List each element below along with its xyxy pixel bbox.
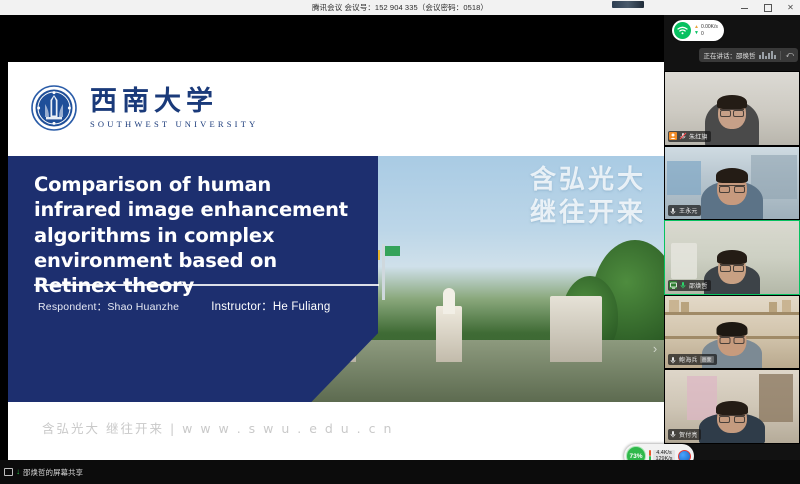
- participant-name: 朱红旗: [689, 132, 708, 141]
- participant-name: 王永元: [679, 206, 698, 215]
- active-speaker-text: 正在讲话：邵焕哲: [703, 50, 755, 60]
- video-tile[interactable]: 王永元: [664, 146, 800, 221]
- participant-video-rail: ▲ 0.00K/s ▼ 0 正在讲话：邵焕哲 ⤺: [664, 15, 800, 460]
- cabinet-shape: [759, 374, 793, 422]
- university-logo: 西南大学 SOUTHWEST UNIVERSITY: [30, 84, 258, 132]
- video-tile[interactable]: 鲍海兵 画面: [664, 295, 800, 370]
- participant-glasses: [720, 109, 744, 115]
- respondent-text: Respondent：Shao Huanzhe: [38, 299, 179, 314]
- participant-name: 鲍海兵: [679, 355, 698, 364]
- download-value: 0: [701, 31, 704, 38]
- participant-hair: [717, 322, 748, 336]
- participant-glasses: [719, 415, 745, 421]
- download-stat: ▼ 0: [694, 31, 718, 38]
- active-speaker-bar: 正在讲话：邵焕哲 ⤺: [699, 48, 798, 62]
- logo-name-cn: 西南大学: [90, 88, 258, 115]
- audio-waveform-icon: [759, 51, 776, 59]
- book-shape: [681, 302, 689, 312]
- video-tile[interactable]: 贺付亮: [664, 369, 800, 444]
- participant-hair: [716, 168, 748, 183]
- title-bar: 腾讯会议 会议号：152 904 335（会议密码：0518） ✕: [0, 0, 800, 15]
- slide-footer-text: 含弘光大 继往开来 | w w w . s w u . e d u . c n: [42, 418, 393, 437]
- video-tile[interactable]: 朱红旗: [664, 71, 800, 146]
- participant-label: 鲍海兵 画面: [668, 354, 717, 365]
- university-crest-icon: [30, 84, 78, 132]
- logo-name-en: SOUTHWEST UNIVERSITY: [90, 119, 258, 129]
- book-shape: [669, 300, 679, 312]
- participant-hair: [716, 401, 748, 415]
- participant-hair: [717, 95, 747, 109]
- window-frame-left: [0, 62, 8, 466]
- mic-on-icon: [679, 281, 687, 289]
- titlebar-thumbnail: [612, 1, 644, 8]
- participant-chip: 画面: [700, 356, 714, 363]
- participant-glasses: [720, 264, 744, 270]
- monument-center: [436, 306, 462, 362]
- video-tile-list: 朱红旗 王永元: [664, 71, 800, 444]
- monument-wall: [550, 296, 602, 362]
- network-stats: ▲ 0.00K/s ▼ 0: [694, 24, 718, 38]
- upload-value: 0.00K/s: [701, 24, 718, 31]
- close-button[interactable]: ✕: [785, 2, 796, 13]
- mic-on-icon: [669, 207, 677, 215]
- download-arrow-icon: ▼: [694, 31, 699, 36]
- download-arrow-icon: ↓: [16, 468, 20, 476]
- mic-on-icon: [669, 430, 677, 438]
- book-shape: [769, 302, 777, 312]
- title-divider: [34, 284, 379, 286]
- flag-pole: [382, 244, 385, 300]
- participant-glasses: [720, 336, 745, 342]
- participant-label: 邵焕哲: [668, 280, 711, 291]
- window-controls: ✕: [739, 0, 796, 15]
- book-shape: [782, 300, 791, 312]
- tile-scenery: [667, 161, 701, 195]
- network-status-badge[interactable]: ▲ 0.00K/s ▼ 0: [672, 20, 724, 41]
- maximize-button[interactable]: [762, 2, 773, 13]
- host-badge-icon: [669, 132, 677, 140]
- slide-header: 西南大学 SOUTHWEST UNIVERSITY: [8, 62, 664, 156]
- participant-label: 王永元: [668, 205, 701, 216]
- photo-overlay-line-2: 继往开来: [530, 197, 646, 230]
- photo-overlay-text: 含弘光大 继往开来: [530, 164, 646, 229]
- slide-title: Comparison of human infrared image enhan…: [34, 172, 364, 299]
- screen-share-icon: [669, 281, 677, 289]
- tile-scenery: [671, 243, 697, 279]
- status-bar: ↓ 邵焕哲的屏幕共享: [0, 460, 800, 484]
- instructor-text: Instructor：He Fuliang: [211, 298, 330, 314]
- window-title: 腾讯会议 会议号：152 904 335（会议密码：0518）: [312, 2, 488, 13]
- mic-on-icon: [669, 356, 677, 364]
- wifi-icon: [674, 22, 691, 39]
- screen-share-status[interactable]: ↓ 邵焕哲的屏幕共享: [4, 467, 83, 478]
- slide-body: 含弘光大 继往开来: [8, 156, 664, 402]
- bookshelf-line: [665, 312, 800, 315]
- minimize-button[interactable]: [739, 2, 750, 13]
- curtain-shape: [687, 376, 717, 420]
- mic-muted-icon: [679, 132, 687, 140]
- slide-footer: 含弘光大 继往开来 | w w w . s w u . e d u . c n: [8, 402, 664, 460]
- divider: [780, 51, 781, 60]
- photo-overlay-line-1: 含弘光大: [530, 164, 646, 197]
- screen-share-icon: [4, 468, 13, 476]
- participant-name: 贺付亮: [679, 430, 698, 439]
- video-tile-active-speaker[interactable]: 邵焕哲: [664, 220, 800, 295]
- participant-glasses: [719, 185, 745, 191]
- chevron-right-icon[interactable]: ›: [648, 331, 662, 365]
- shared-screen-area[interactable]: 西南大学 SOUTHWEST UNIVERSITY 含弘光大 继往开来: [8, 62, 664, 460]
- slide-credits: Respondent：Shao Huanzhe Instructor：He Fu…: [38, 298, 368, 314]
- screen-share-label: 邵焕哲的屏幕共享: [23, 467, 83, 478]
- participant-label: 朱红旗: [668, 131, 711, 142]
- participant-name: 邵焕哲: [689, 281, 708, 290]
- participant-label: 贺付亮: [668, 429, 701, 440]
- statue-figure: [443, 288, 455, 314]
- participant-hair: [717, 250, 747, 264]
- meeting-window: 腾讯会议 会议号：152 904 335（会议密码：0518） ✕: [0, 0, 800, 484]
- collapse-panel-icon[interactable]: ⤺: [785, 50, 794, 60]
- upload-arrow-icon: ▲: [694, 25, 699, 30]
